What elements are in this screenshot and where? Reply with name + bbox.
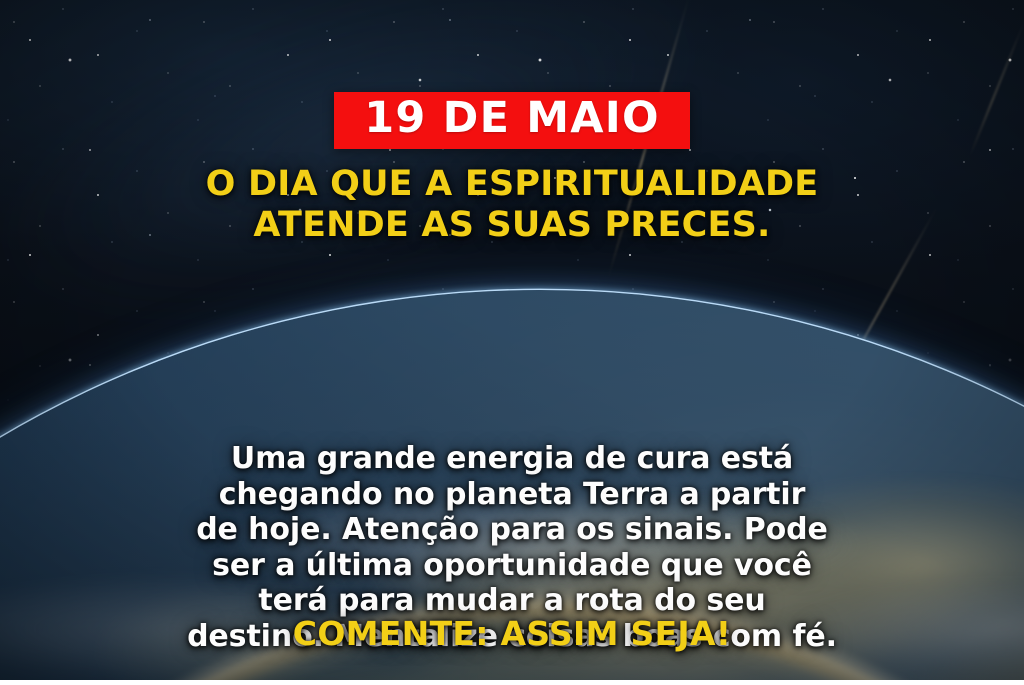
headline: O DIA QUE A ESPIRITUALIDADE ATENDE AS SU… xyxy=(206,164,819,246)
call-to-action-text: COMENTE: ASSIM SEJA! xyxy=(0,614,1024,653)
headline-line-1: O DIA QUE A ESPIRITUALIDADE xyxy=(206,164,819,205)
body-line-4: ser a última oportunidade que você xyxy=(56,548,968,584)
headline-line-2: ATENDE AS SUAS PRECES. xyxy=(206,205,819,246)
bottom-white-strip xyxy=(0,680,1024,685)
poster-canvas: 19 DE MAIO O DIA QUE A ESPIRITUALIDADE A… xyxy=(0,0,1024,685)
date-banner: 19 DE MAIO xyxy=(334,92,689,149)
body-line-1: Uma grande energia de cura está xyxy=(56,441,968,477)
body-line-3: de hoje. Atenção para os sinais. Pode xyxy=(56,512,968,548)
date-banner-label: 19 DE MAIO xyxy=(364,97,659,140)
poster-content: 19 DE MAIO O DIA QUE A ESPIRITUALIDADE A… xyxy=(0,0,1024,685)
body-line-2: chegando no planeta Terra a partir xyxy=(56,477,968,513)
